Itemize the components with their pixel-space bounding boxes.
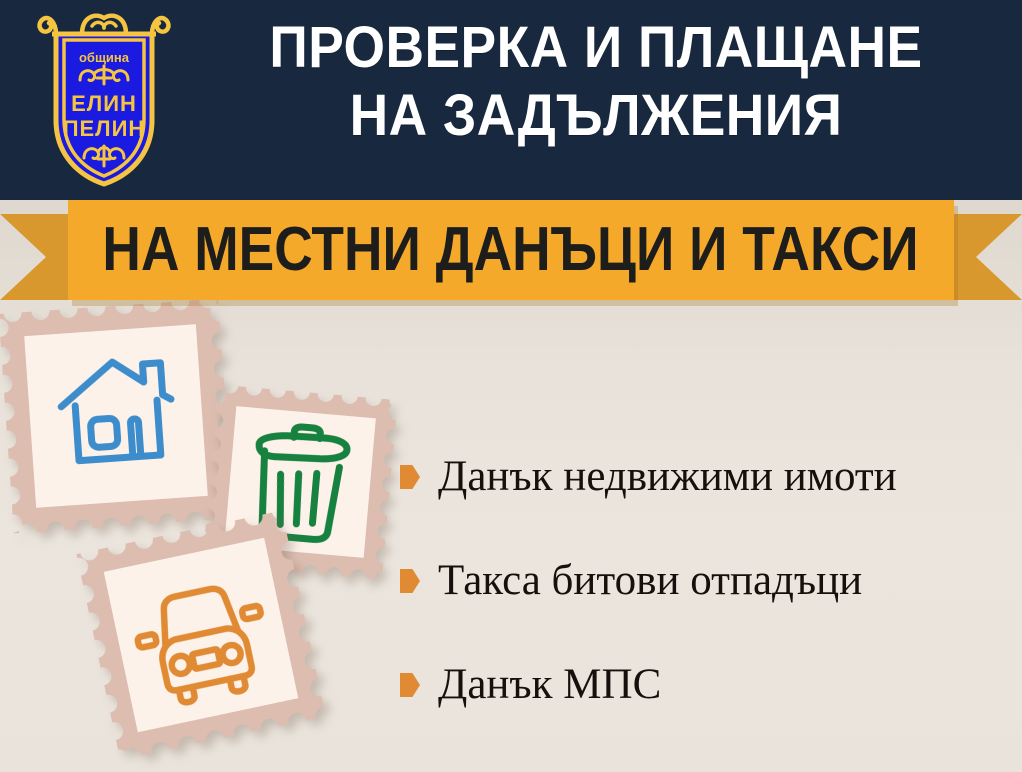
page-title-line-1: ПРОВЕРКА И ПЛАЩАНЕ xyxy=(222,14,969,82)
svg-text:община: община xyxy=(79,50,130,65)
bullet-arrow-icon xyxy=(400,465,420,489)
list-item-label: Данък МПС xyxy=(438,661,661,709)
page-title-line-2: НА ЗАДЪЛЖЕНИЯ xyxy=(222,82,969,150)
list-item[interactable]: Данък недвижими имоти xyxy=(400,425,1012,529)
ribbon-subtitle: НА МЕСТНИ ДАНЪЦИ И ТАКСИ xyxy=(103,219,919,281)
bullet-arrow-icon xyxy=(400,673,420,697)
poster-root: ПРОВЕРКА И ПЛАЩАНЕ НА ЗАДЪЛЖЕНИЯ община xyxy=(0,0,1022,772)
stamp-card-group xyxy=(0,300,420,772)
stamp-card-car xyxy=(76,510,325,759)
ribbon-banner: НА МЕСТНИ ДАНЪЦИ И ТАКСИ xyxy=(0,200,1022,310)
bullet-arrow-icon xyxy=(400,569,420,593)
tax-type-list: Данък недвижими имоти Такса битови отпад… xyxy=(400,425,1012,737)
list-item[interactable]: Такса битови отпадъци xyxy=(400,529,1012,633)
coat-of-arms-icon: община ЕЛИН ПЕЛИН xyxy=(34,8,174,190)
svg-text:ЕЛИН: ЕЛИН xyxy=(71,91,137,116)
ribbon-band: НА МЕСТНИ ДАНЪЦИ И ТАКСИ xyxy=(68,200,954,300)
list-item[interactable]: Данък МПС xyxy=(400,633,1012,737)
page-title: ПРОВЕРКА И ПЛАЩАНЕ НА ЗАДЪЛЖЕНИЯ xyxy=(222,14,969,150)
svg-text:ПЕЛИН: ПЕЛИН xyxy=(63,116,146,141)
list-item-label: Такса битови отпадъци xyxy=(438,557,862,605)
list-item-label: Данък недвижими имоти xyxy=(438,453,897,501)
stamp-card-house xyxy=(0,299,233,534)
